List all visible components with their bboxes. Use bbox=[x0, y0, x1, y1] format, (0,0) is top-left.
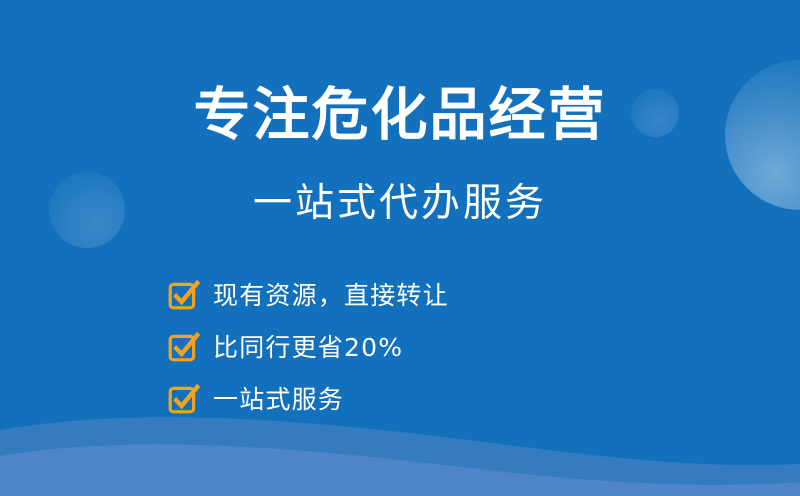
feature-item: 比同行更省20% bbox=[168, 328, 449, 366]
promo-banner: 专注危化品经营 一站式代办服务 现有资源，直接转让 bbox=[0, 0, 800, 496]
checkbox-check-icon bbox=[168, 332, 198, 362]
feature-item-label: 比同行更省20% bbox=[213, 335, 403, 360]
banner-subtitle: 一站式代办服务 bbox=[0, 183, 800, 226]
feature-item: 现有资源，直接转让 bbox=[168, 276, 449, 314]
checkbox-check-icon bbox=[168, 280, 198, 310]
checkbox-check-icon bbox=[168, 384, 198, 414]
feature-list: 现有资源，直接转让 比同行更省20% 一站式 bbox=[168, 276, 449, 418]
feature-item: 一站式服务 bbox=[168, 380, 449, 418]
feature-item-label: 现有资源，直接转让 bbox=[213, 283, 449, 308]
feature-item-label: 一站式服务 bbox=[213, 387, 344, 412]
banner-content: 专注危化品经营 一站式代办服务 现有资源，直接转让 bbox=[0, 0, 800, 496]
banner-headline: 专注危化品经营 bbox=[0, 84, 800, 146]
